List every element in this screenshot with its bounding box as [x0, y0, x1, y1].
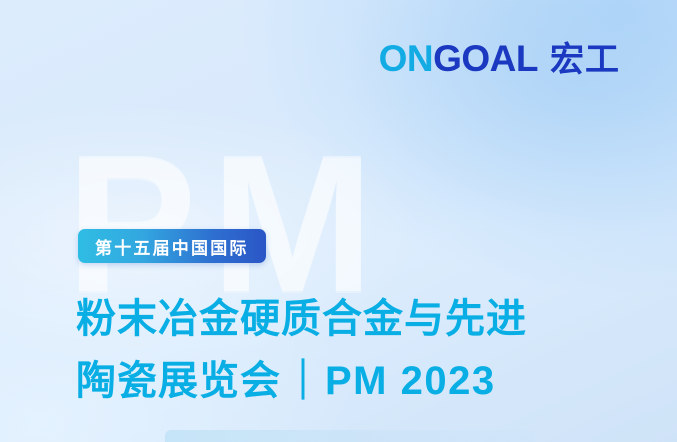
logo-wordmark: ONGOAL: [379, 40, 538, 77]
pm-watermark: PM: [66, 140, 626, 308]
page-title-line-2: 陶瓷展览会｜PM 2023: [76, 350, 636, 412]
page-title-line-2-chinese: 陶瓷展览会: [76, 359, 281, 403]
logo-chinese-name: 宏工: [550, 43, 620, 77]
logo-wordmark-on: ON: [379, 38, 434, 79]
page-title-event-code: PM 2023: [325, 359, 496, 403]
poster-canvas: PM ONGOAL 宏工 第十五届中国国际 粉末冶金硬质合金与先进 陶瓷展览会｜…: [0, 0, 677, 442]
edition-badge: 第十五届中国国际: [78, 229, 266, 263]
ongoal-logo: ONGOAL 宏工: [379, 40, 620, 77]
page-title-line-1: 粉末冶金硬质合金与先进: [76, 288, 636, 350]
page-title: 粉末冶金硬质合金与先进 陶瓷展览会｜PM 2023: [76, 288, 636, 412]
logo-wordmark-goal: GOAL: [433, 38, 538, 79]
page-title-separator: ｜: [281, 359, 325, 403]
bottom-cutoff-strip: [165, 430, 535, 442]
